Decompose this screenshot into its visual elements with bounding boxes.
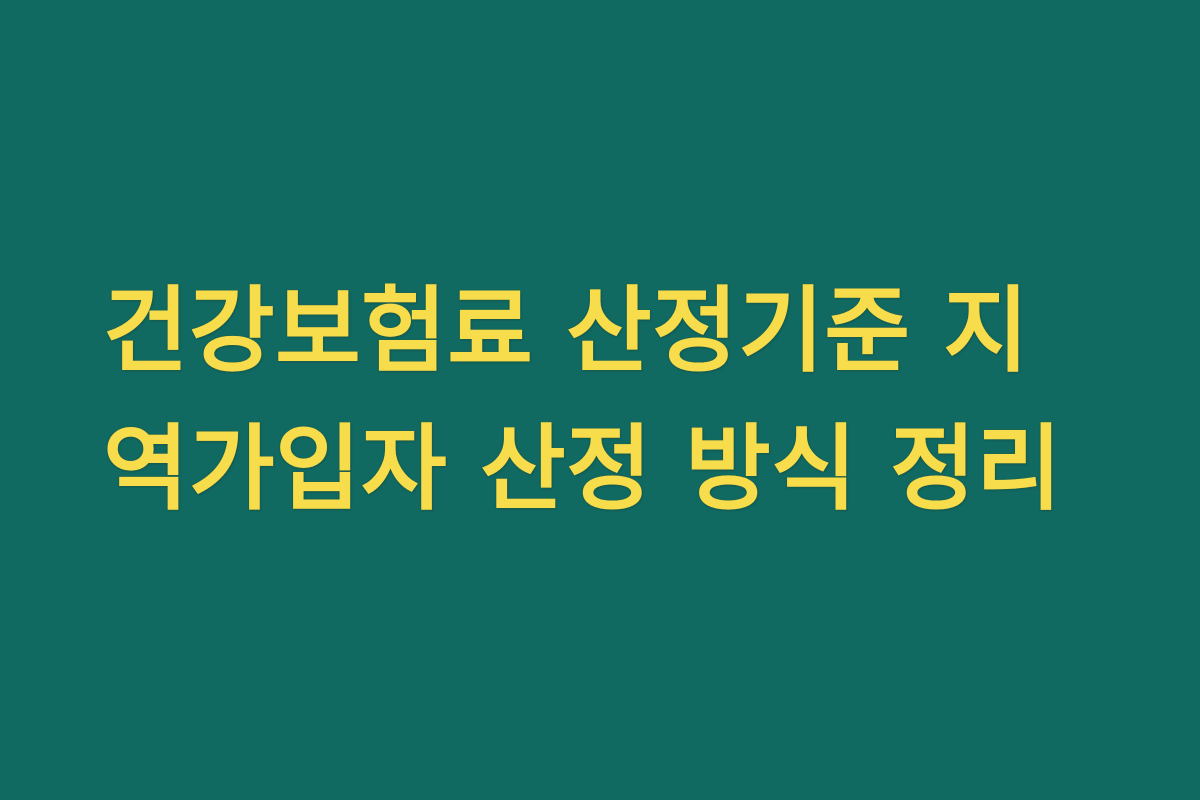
title-line-1: 건강보험료 산정기준 지 [103, 262, 1029, 400]
title-block: 건강보험료 산정기준 지 역가입자 산정 방식 정리 [0, 262, 1200, 538]
banner-background: 건강보험료 산정기준 지 역가입자 산정 방식 정리 [0, 0, 1200, 800]
title-line-2: 역가입자 산정 방식 정리 [103, 400, 1062, 538]
